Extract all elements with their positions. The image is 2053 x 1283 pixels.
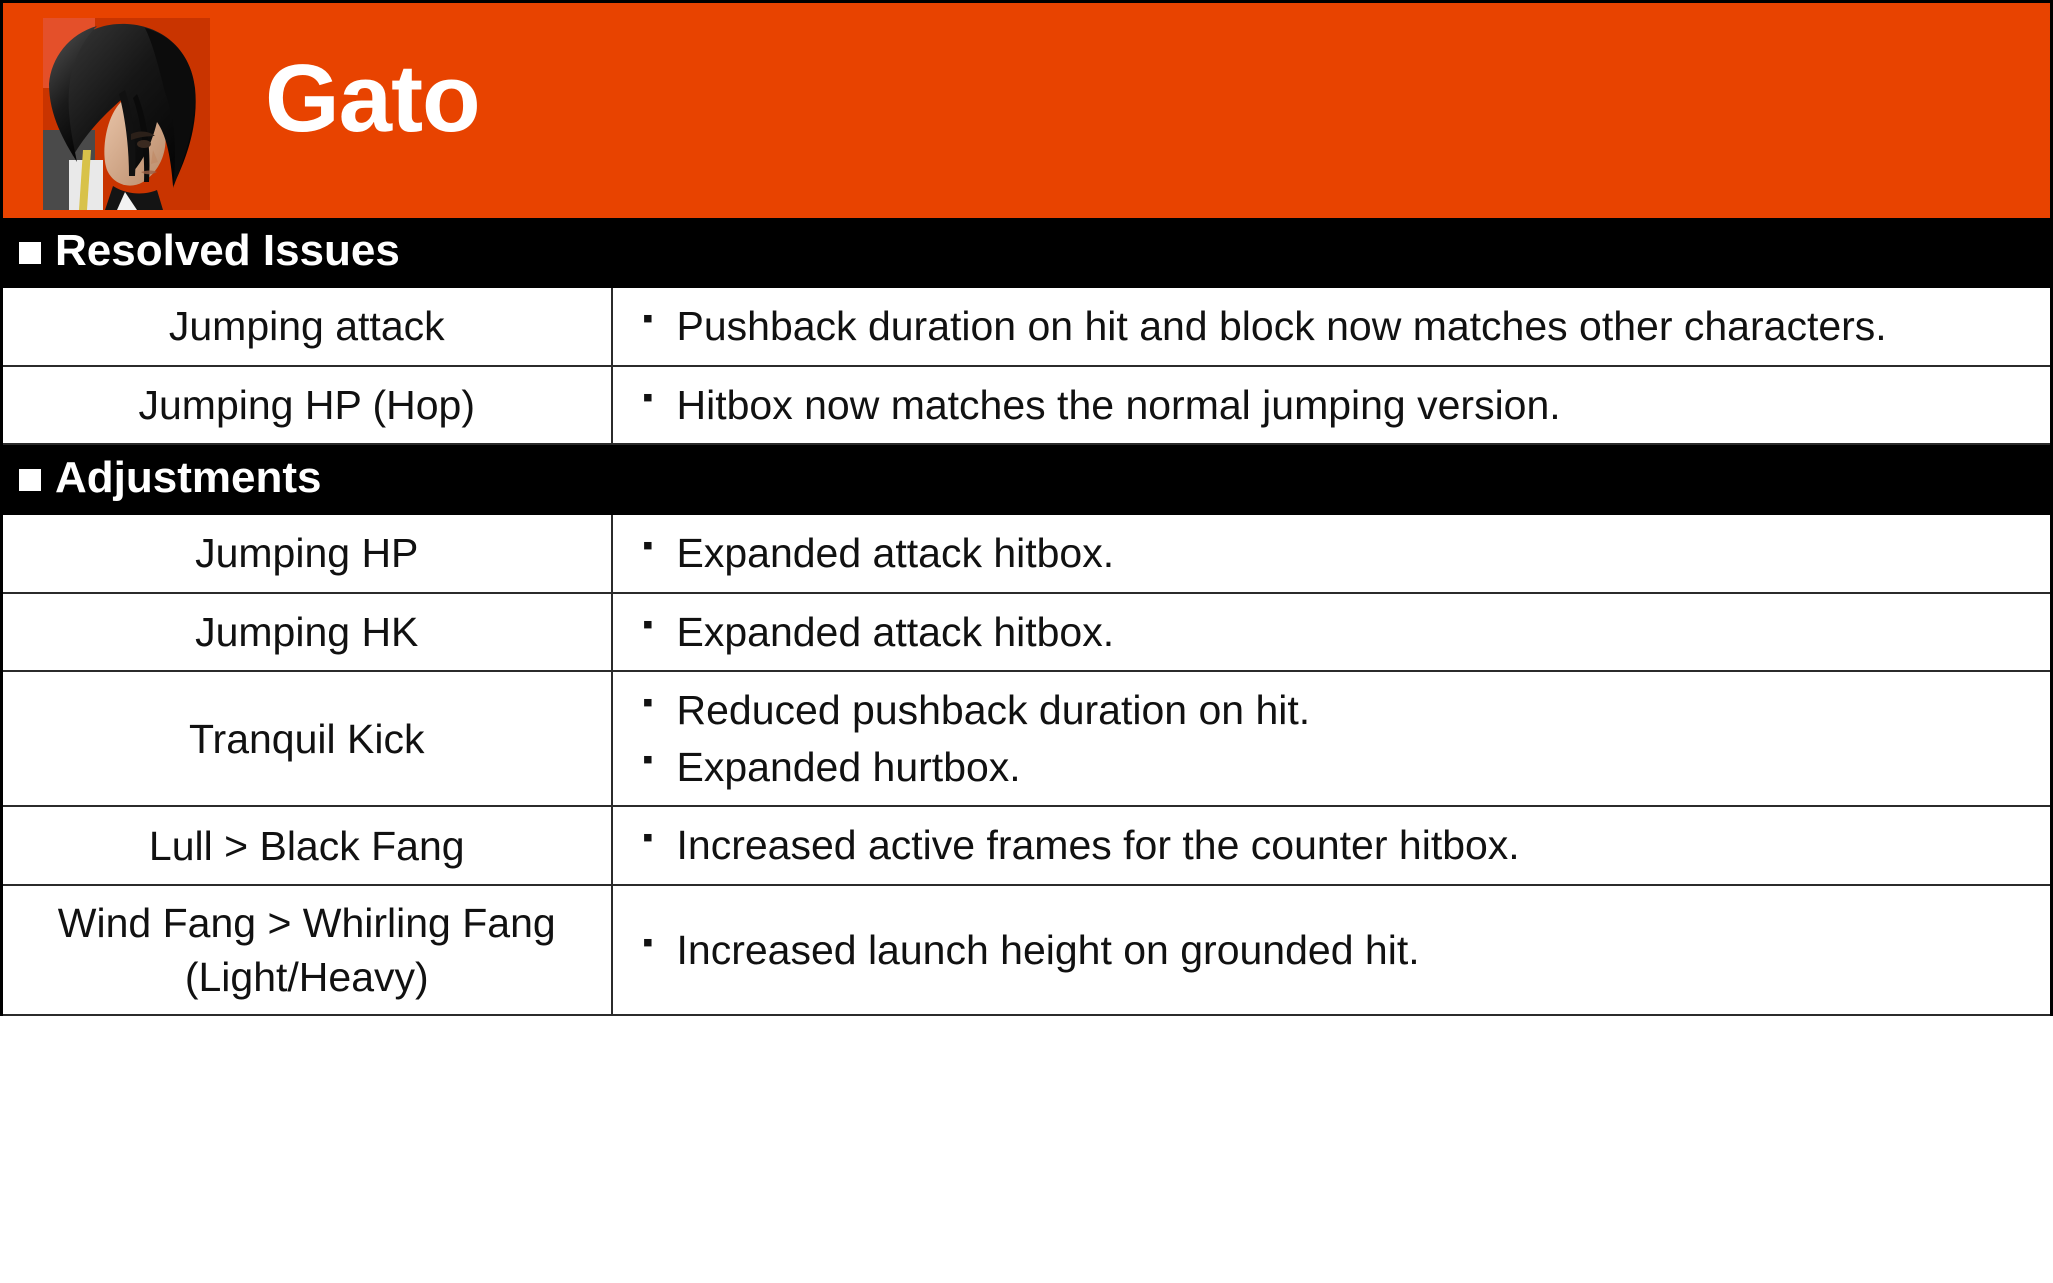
table-row: Jumping HP Expanded attack hitbox. [2, 515, 2052, 593]
move-notes-cell: Hitbox now matches the normal jumping ve… [612, 366, 2052, 445]
move-name-cell: Tranquil Kick [2, 671, 612, 806]
character-header-banner: Gato [0, 0, 2053, 218]
square-bullet-icon [19, 242, 41, 264]
note-bullet: Hitbox now matches the normal jumping ve… [643, 377, 2029, 434]
section-title: Adjustments [55, 456, 321, 500]
move-name-cell: Wind Fang > Whirling Fang (Light/Heavy) [2, 885, 612, 1015]
table-row: Jumping HP (Hop) Hitbox now matches the … [2, 366, 2052, 445]
move-notes-cell: Pushback duration on hit and block now m… [612, 288, 2052, 366]
table-resolved-issues: Jumping attack Pushback duration on hit … [0, 288, 2053, 445]
section-header-adjustments: Adjustments [0, 445, 2053, 515]
note-bullet: Pushback duration on hit and block now m… [643, 298, 2029, 355]
move-notes-cell: Expanded attack hitbox. [612, 515, 2052, 593]
move-notes-cell: Increased launch height on grounded hit. [612, 885, 2052, 1015]
move-name-cell: Jumping HP [2, 515, 612, 593]
move-notes-cell: Expanded attack hitbox. [612, 593, 2052, 672]
note-bullet: Expanded hurtbox. [643, 739, 2029, 796]
move-name-cell: Lull > Black Fang [2, 806, 612, 885]
move-name-cell: Jumping HK [2, 593, 612, 672]
note-bullet: Increased launch height on grounded hit. [643, 922, 2029, 979]
move-notes-cell: Reduced pushback duration on hit. Expand… [612, 671, 2052, 806]
table-row: Wind Fang > Whirling Fang (Light/Heavy) … [2, 885, 2052, 1015]
section-title: Resolved Issues [55, 229, 400, 273]
table-row: Jumping attack Pushback duration on hit … [2, 288, 2052, 366]
note-bullet: Increased active frames for the counter … [643, 817, 2029, 874]
table-row: Jumping HK Expanded attack hitbox. [2, 593, 2052, 672]
note-bullet: Expanded attack hitbox. [643, 525, 2029, 582]
section-header-resolved-issues: Resolved Issues [0, 218, 2053, 288]
table-row: Lull > Black Fang Increased active frame… [2, 806, 2052, 885]
move-name-cell: Jumping HP (Hop) [2, 366, 612, 445]
patch-notes-page: Gato Resolved Issues Jumping attack Push… [0, 0, 2053, 1283]
character-portrait-gato [25, 10, 210, 210]
table-adjustments: Jumping HP Expanded attack hitbox. Jumpi… [0, 515, 2053, 1016]
note-bullet: Expanded attack hitbox. [643, 604, 2029, 661]
note-bullet: Reduced pushback duration on hit. [643, 682, 2029, 739]
table-row: Tranquil Kick Reduced pushback duration … [2, 671, 2052, 806]
move-name-cell: Jumping attack [2, 288, 612, 366]
page-title: Gato [265, 51, 480, 147]
square-bullet-icon [19, 469, 41, 491]
move-notes-cell: Increased active frames for the counter … [612, 806, 2052, 885]
